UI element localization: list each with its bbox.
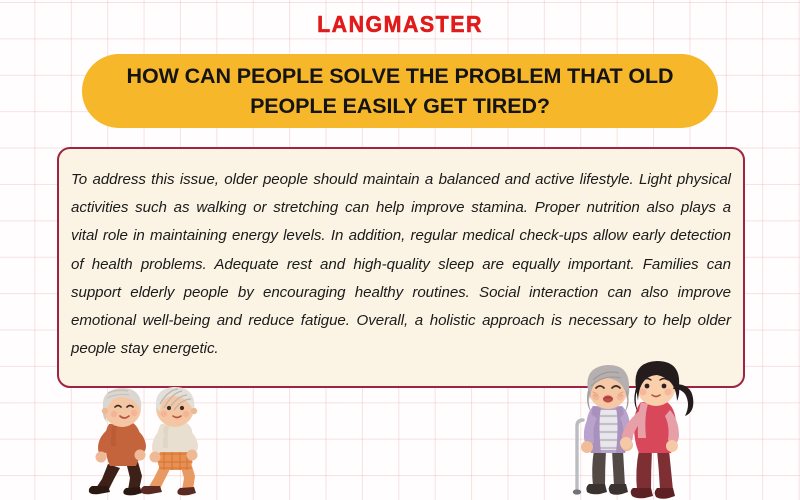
walking-cane [573,420,583,495]
page-canvas: LANGMASTER HOW CAN PEOPLE SOLVE THE PROB… [0,0,800,500]
jogger-right-figure [141,387,198,495]
young-woman-caregiver-figure [620,361,693,499]
question-title: HOW CAN PEOPLE SOLVE THE PROBLEM THAT OL… [124,61,676,121]
question-banner: HOW CAN PEOPLE SOLVE THE PROBLEM THAT OL… [82,54,718,128]
caregiver-illustration [567,358,719,500]
answer-body-text: To address this issue, older people shou… [71,166,731,363]
elderly-joggers-illustration [74,378,224,500]
answer-card: To address this issue, older people shou… [57,147,745,388]
jogger-left-figure [89,388,146,495]
langmaster-logo: LANGMASTER [28,11,772,37]
